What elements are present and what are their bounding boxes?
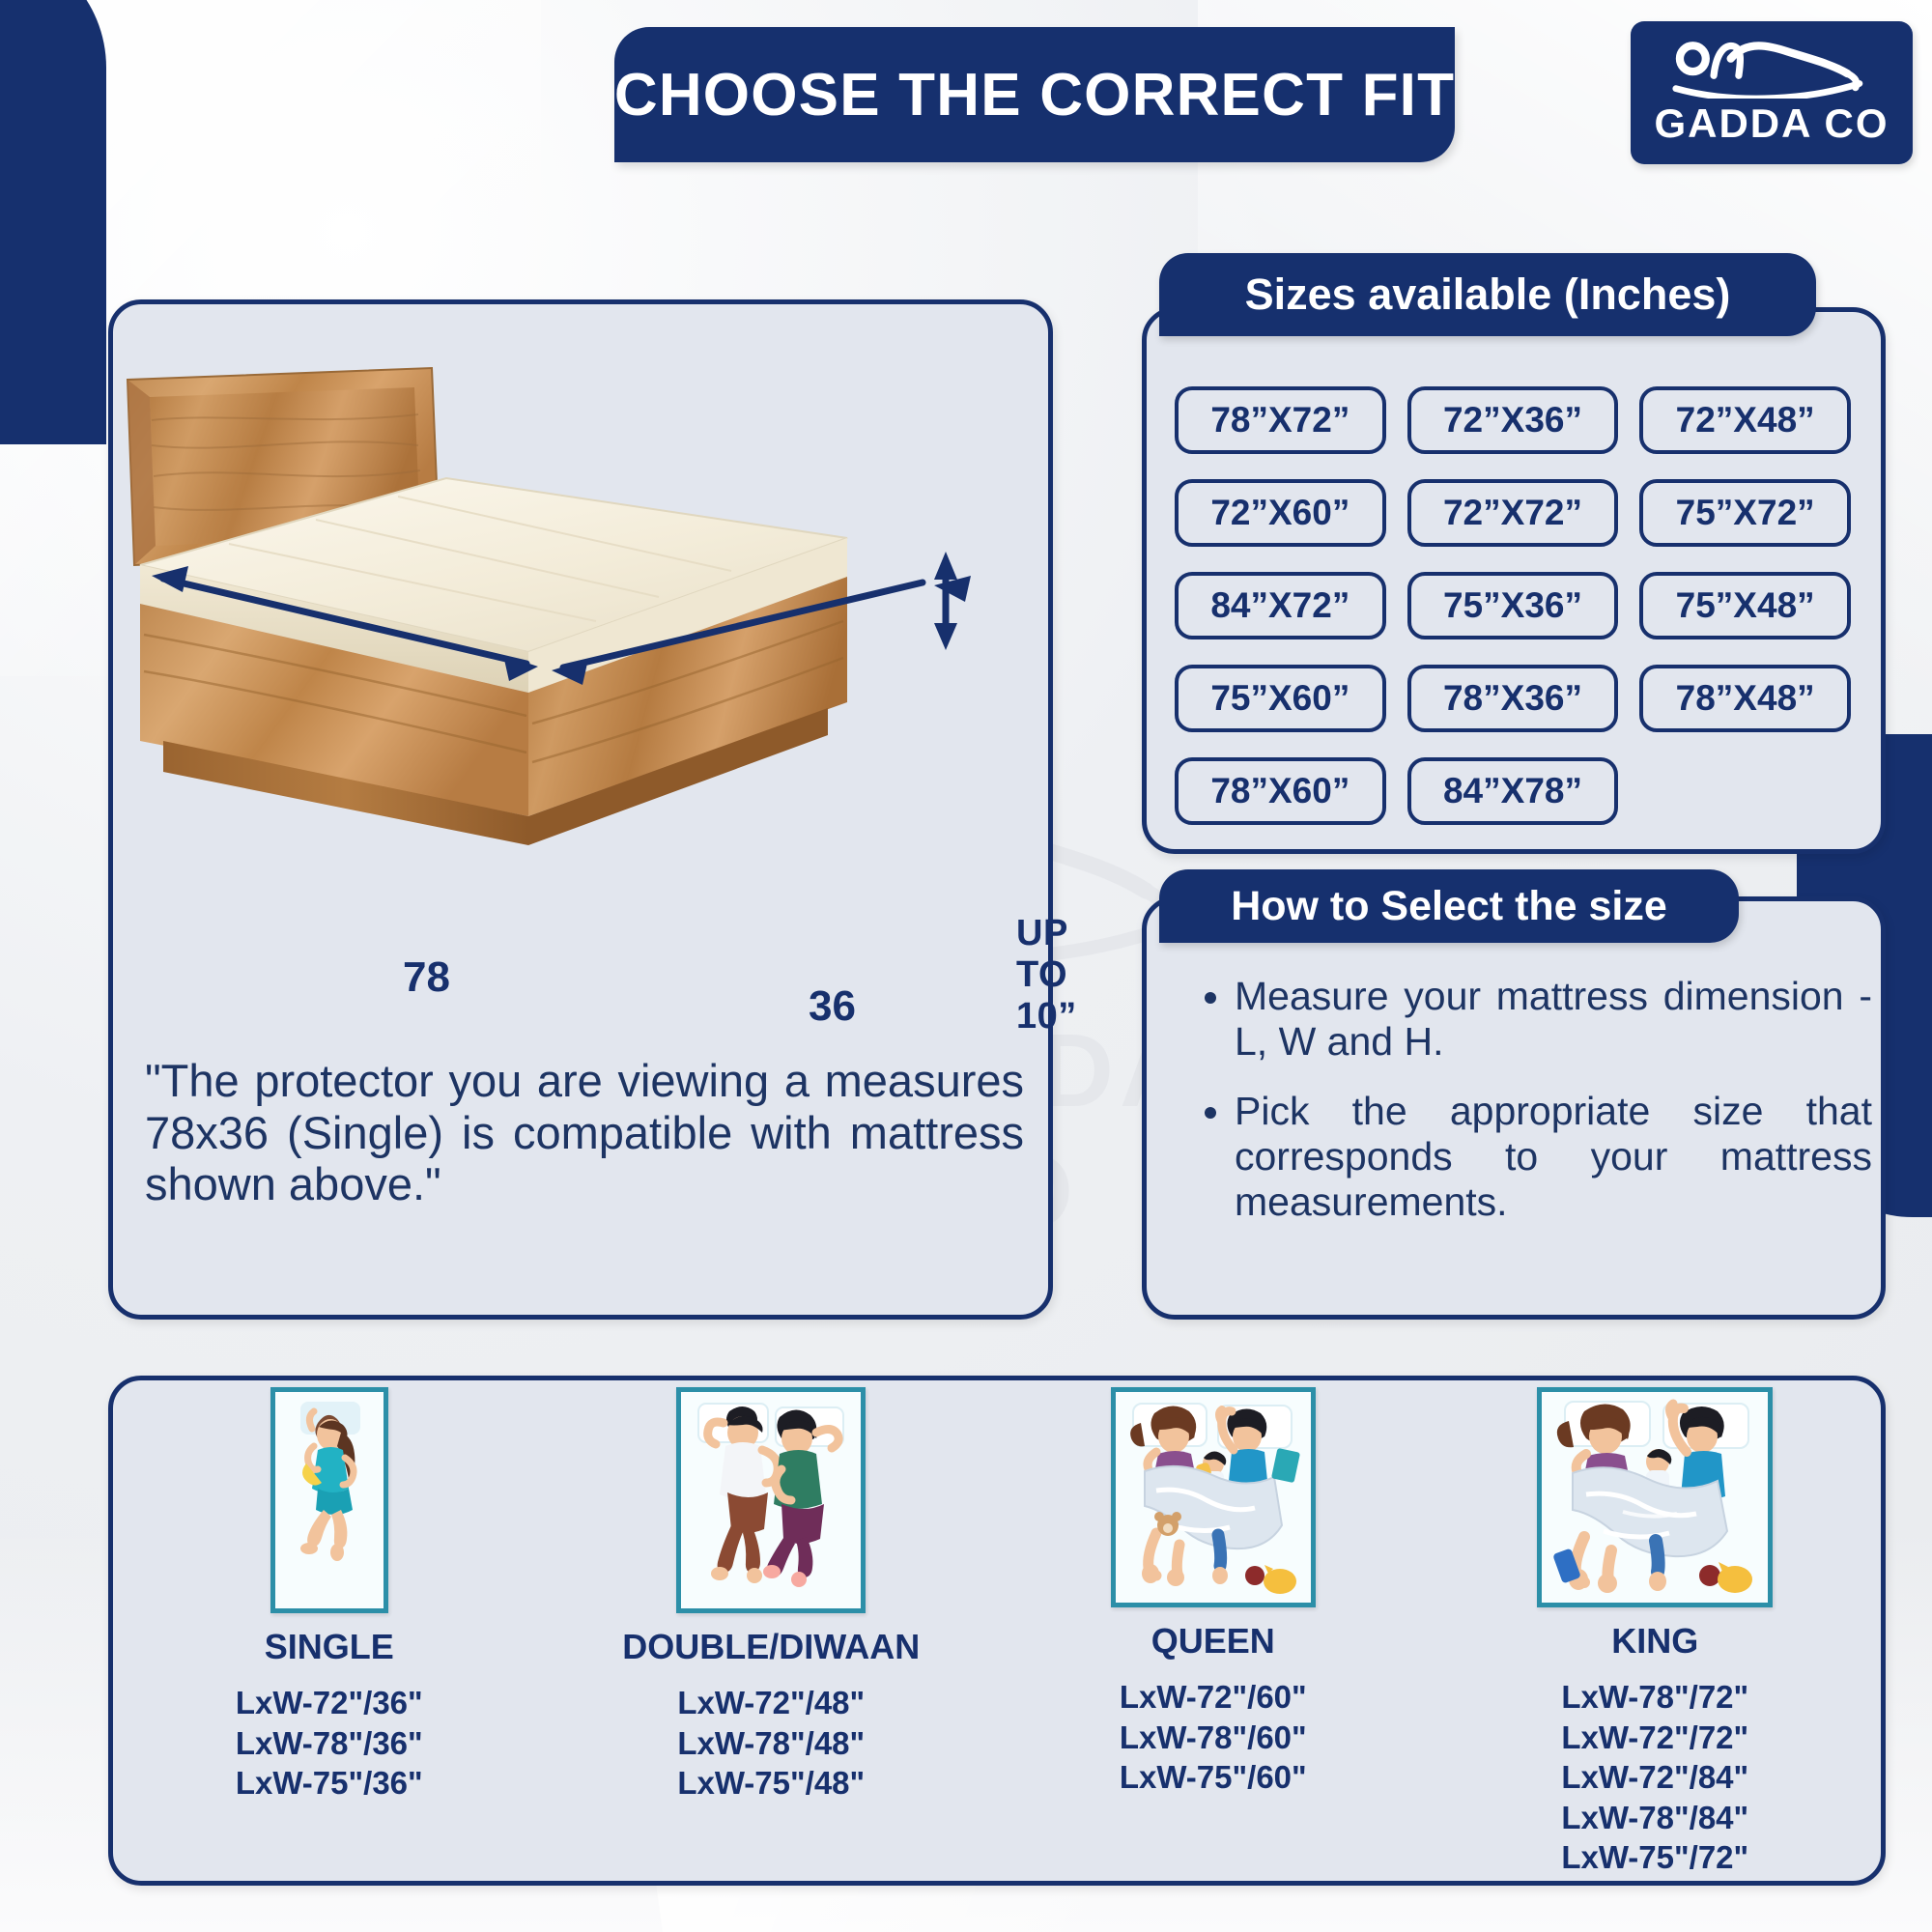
size-chip[interactable]: 75”X48” [1639,572,1851,639]
category-title: QUEEN [1151,1621,1275,1662]
size-chip[interactable]: 72”X48” [1639,386,1851,454]
single-sleeper-icon [270,1387,388,1613]
how-to-select-title: How to Select the size [1231,883,1667,930]
dimension-line: LxW-75"/72" [1561,1837,1748,1878]
sizes-chip-grid: 78”X72” 72”X36” 72”X48” 72”X60” 72”X72” … [1175,386,1851,825]
category-single[interactable]: SINGLE LxW-72"/36" LxW-78"/36" LxW-75"/3… [108,1376,551,1878]
corner-shape-top-left [0,0,106,444]
dimension-line: LxW-78"/84" [1561,1798,1748,1838]
size-categories-row: SINGLE LxW-72"/36" LxW-78"/36" LxW-75"/3… [108,1376,1876,1876]
dimension-line: LxW-72"/60" [1120,1677,1307,1718]
size-chip-empty [1639,757,1851,817]
dimension-line: LxW-75"/60" [1120,1757,1307,1798]
sleeping-person-logo-icon [1670,39,1873,99]
wooden-bed-illustration [113,362,1048,961]
dimension-line: LxW-78"/72" [1561,1677,1748,1718]
category-double-diwaan[interactable]: DOUBLE/DIWAAN LxW-72"/48" LxW-78"/48" Lx… [551,1376,993,1878]
size-chip[interactable]: 75”X72” [1639,479,1851,547]
sizes-available-title: Sizes available (Inches) [1245,270,1731,320]
category-dimensions: LxW-72"/48" LxW-78"/48" LxW-75"/48" [677,1683,865,1804]
mattress-width-label: 36 [809,982,856,1031]
size-chip[interactable]: 78”X60” [1175,757,1386,825]
dimension-line: LxW-78"/36" [236,1723,423,1764]
size-chip[interactable]: 72”X60” [1175,479,1386,547]
queen-family-icon [1111,1387,1316,1607]
category-title: SINGLE [265,1627,394,1667]
dimension-line: LxW-75"/48" [677,1763,865,1804]
dimension-line: LxW-72"/48" [677,1683,865,1723]
mattress-height-label: UP TO 10” [1016,913,1077,1037]
category-king[interactable]: KING LxW-78"/72" LxW-72"/72" LxW-72"/84"… [1435,1376,1877,1878]
page-title: CHOOSE THE CORRECT FIT [614,61,1455,129]
header-banner: CHOOSE THE CORRECT FIT [614,27,1455,162]
compatibility-quote: "The protector you are viewing a measure… [145,1055,1024,1210]
size-chip[interactable]: 84”X72” [1175,572,1386,639]
size-chip[interactable]: 78”X72” [1175,386,1386,454]
size-chip[interactable]: 78”X36” [1407,665,1619,732]
king-family-icon [1537,1387,1773,1607]
category-dimensions: LxW-78"/72" LxW-72"/72" LxW-72"/84" LxW-… [1561,1677,1748,1878]
how-to-select-list: Measure your mattress dimension - L, W a… [1190,974,1872,1250]
size-chip[interactable]: 78”X48” [1639,665,1851,732]
dimension-line: LxW-72"/72" [1561,1718,1748,1758]
list-item: Measure your mattress dimension - L, W a… [1235,974,1872,1064]
double-sleeper-icon [676,1387,866,1613]
bed-image [113,362,1048,961]
size-chip[interactable]: 72”X36” [1407,386,1619,454]
category-dimensions: LxW-72"/36" LxW-78"/36" LxW-75"/36" [236,1683,423,1804]
brand-logo: GADDA CO [1631,21,1913,164]
dimension-line: LxW-72"/36" [236,1683,423,1723]
category-queen[interactable]: QUEEN LxW-72"/60" LxW-78"/60" LxW-75"/60… [992,1376,1435,1878]
dimension-line: LxW-72"/84" [1561,1757,1748,1798]
size-chip[interactable]: 84”X78” [1407,757,1619,825]
category-dimensions: LxW-72"/60" LxW-78"/60" LxW-75"/60" [1120,1677,1307,1798]
brand-name: GADDA CO [1654,100,1889,147]
sizes-available-title-ribbon: Sizes available (Inches) [1159,253,1816,336]
how-to-select-title-ribbon: How to Select the size [1159,869,1739,943]
dimension-line: LxW-75"/36" [236,1763,423,1804]
category-title: KING [1611,1621,1698,1662]
category-title: DOUBLE/DIWAAN [622,1627,920,1667]
dimension-line: LxW-78"/48" [677,1723,865,1764]
size-chip[interactable]: 75”X36” [1407,572,1619,639]
size-chip[interactable]: 75”X60” [1175,665,1386,732]
dimension-line: LxW-78"/60" [1120,1718,1307,1758]
size-chip[interactable]: 72”X72” [1407,479,1619,547]
infographic-root: GADDA CO CHOOSE THE CORRECT FIT GADDA CO [0,0,1932,1932]
mattress-length-label: 78 [403,953,450,1002]
list-item: Pick the appropriate size that correspon… [1235,1089,1872,1224]
